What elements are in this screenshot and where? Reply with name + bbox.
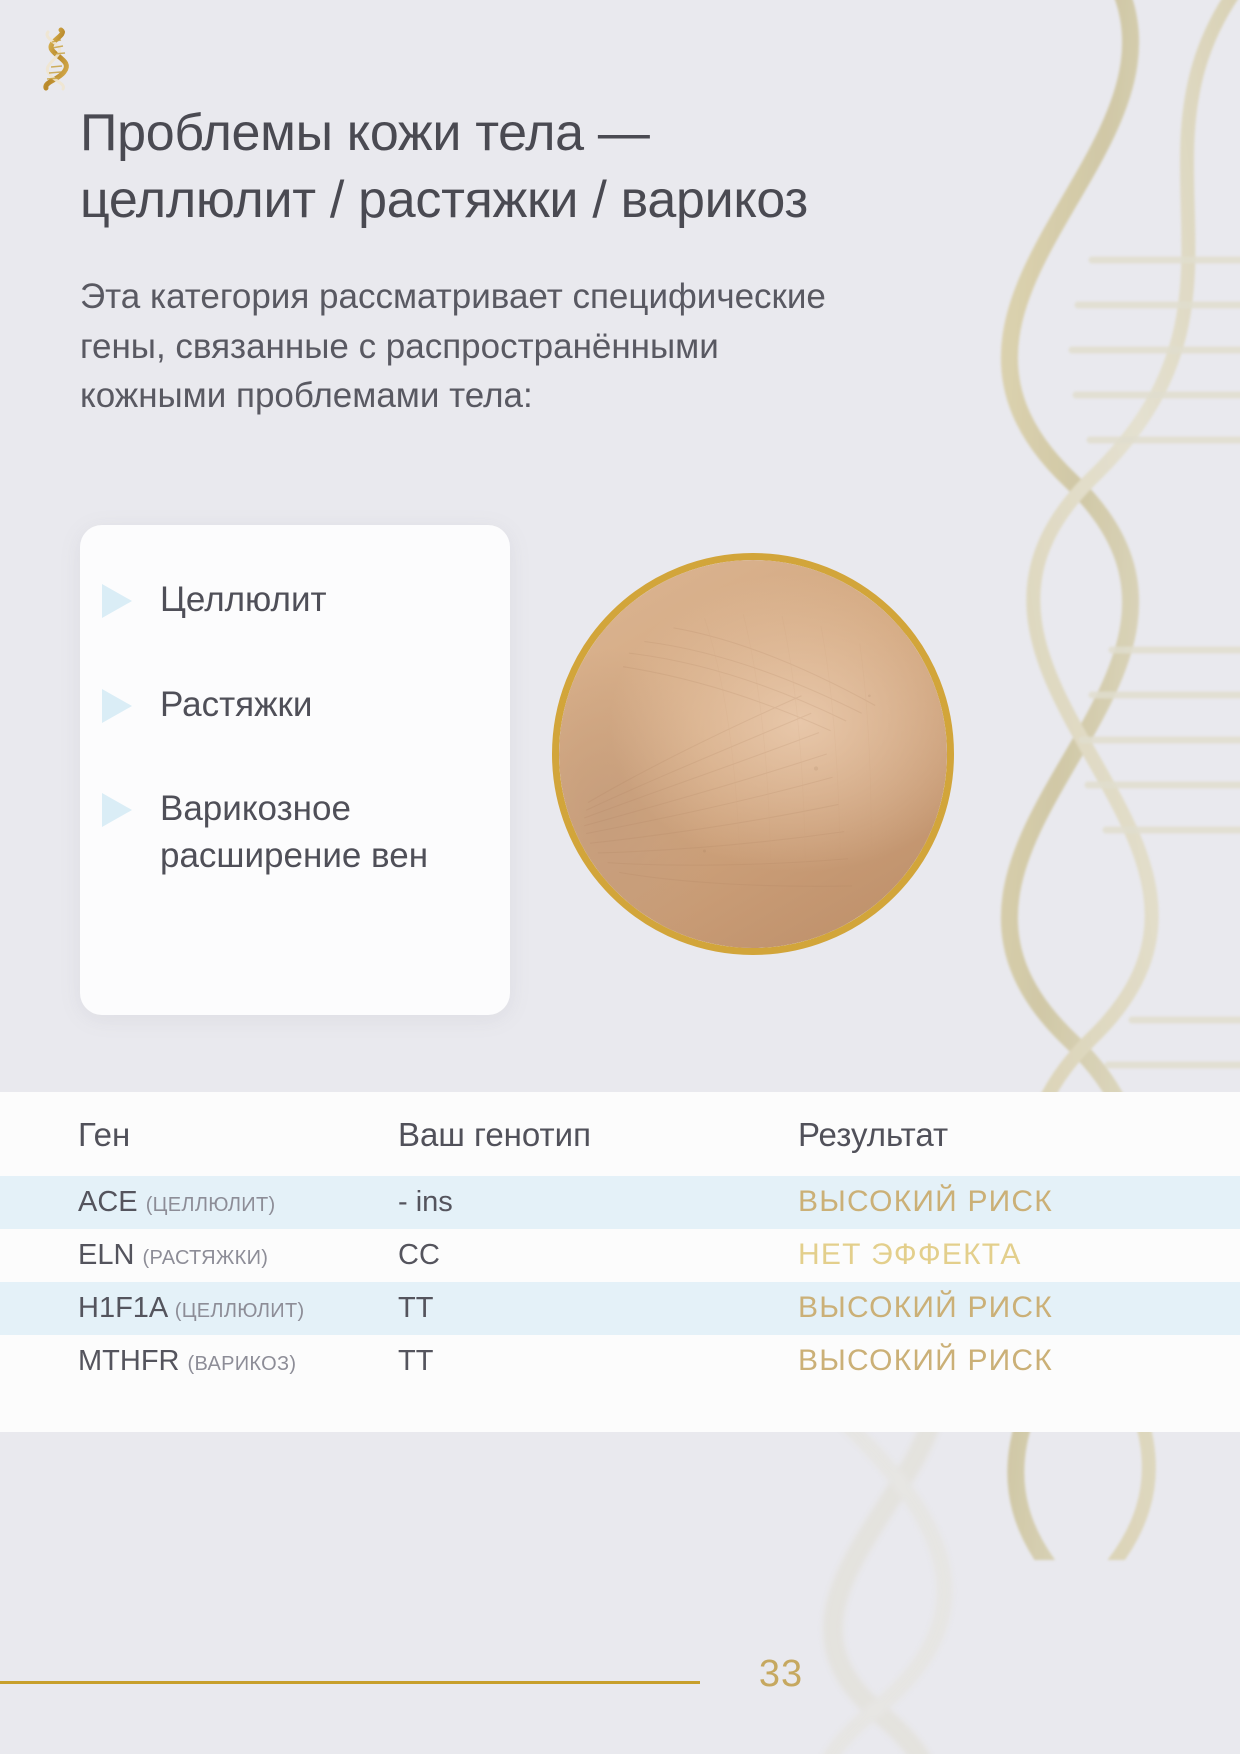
cell-genotype: TT xyxy=(398,1335,798,1388)
column-header-genotype: Ваш генотип xyxy=(398,1092,798,1176)
triangle-bullet-icon xyxy=(102,584,132,618)
column-header-gene: Ген xyxy=(0,1092,398,1176)
photo-stretchmark-lines xyxy=(559,560,947,948)
status-badge: НЕТ ЭФФЕКТА xyxy=(798,1238,1022,1271)
list-item-label: Целлюлит xyxy=(160,577,327,624)
slide-page: Проблемы кожи тела — целлюлит / растяжки… xyxy=(0,0,1240,1754)
gene-name: ELN xyxy=(78,1239,134,1271)
list-item-label: Варикозное расширение вен xyxy=(160,786,496,879)
table-row: H1F1A (ЦЕЛЛЮЛИТ) TT ВЫСОКИЙ РИСК xyxy=(0,1282,1240,1335)
table-header-row: Ген Ваш генотип Результат xyxy=(0,1092,1240,1176)
conditions-card: Целлюлит Растяжки Варикозное расширение … xyxy=(80,525,510,1015)
skin-closeup-photo xyxy=(552,553,954,955)
table-row: ELN (РАСТЯЖКИ) CC НЕТ ЭФФЕКТА xyxy=(0,1229,1240,1282)
status-badge: ВЫСОКИЙ РИСК xyxy=(798,1185,1053,1218)
gene-note: (ВАРИКОЗ) xyxy=(188,1353,297,1375)
page-title-line-2: целлюлит / растяжки / варикоз xyxy=(80,167,960,234)
cell-result: ВЫСОКИЙ РИСК xyxy=(798,1176,1240,1229)
cell-genotype: CC xyxy=(398,1229,798,1282)
cell-gene: ACE (ЦЕЛЛЮЛИТ) xyxy=(0,1176,398,1229)
triangle-bullet-icon xyxy=(102,689,132,723)
cell-gene: MTHFR (ВАРИКОЗ) xyxy=(0,1335,398,1388)
cell-genotype: TT xyxy=(398,1282,798,1335)
dna-helix-logo xyxy=(30,22,80,94)
list-item-label: Растяжки xyxy=(160,682,312,729)
cell-genotype: - ins xyxy=(398,1176,798,1229)
results-table: Ген Ваш генотип Результат ACE (ЦЕЛЛЮЛИТ)… xyxy=(0,1092,1240,1388)
gene-note: (ЦЕЛЛЮЛИТ) xyxy=(175,1300,305,1322)
page-number: 33 xyxy=(736,1653,826,1696)
list-item: Растяжки xyxy=(102,682,496,729)
table-row: MTHFR (ВАРИКОЗ) TT ВЫСОКИЙ РИСК xyxy=(0,1335,1240,1388)
page-title: Проблемы кожи тела — целлюлит / растяжки… xyxy=(80,100,960,233)
gene-note: (РАСТЯЖКИ) xyxy=(142,1247,268,1269)
cell-result: НЕТ ЭФФЕКТА xyxy=(798,1229,1240,1282)
triangle-bullet-icon xyxy=(102,793,132,827)
status-badge: ВЫСОКИЙ РИСК xyxy=(798,1344,1053,1377)
list-item: Варикозное расширение вен xyxy=(102,786,496,879)
gene-name: MTHFR xyxy=(78,1345,179,1377)
intro-paragraph: Эта категория рассматривает специфически… xyxy=(80,272,840,421)
results-table-band: Ген Ваш генотип Результат ACE (ЦЕЛЛЮЛИТ)… xyxy=(0,1092,1240,1432)
cell-gene: ELN (РАСТЯЖКИ) xyxy=(0,1229,398,1282)
cell-gene: H1F1A (ЦЕЛЛЮЛИТ) xyxy=(0,1282,398,1335)
cell-result: ВЫСОКИЙ РИСК xyxy=(798,1282,1240,1335)
cell-result: ВЫСОКИЙ РИСК xyxy=(798,1335,1240,1388)
page-title-line-1: Проблемы кожи тела — xyxy=(80,100,960,167)
conditions-list: Целлюлит Растяжки Варикозное расширение … xyxy=(102,577,496,879)
list-item: Целлюлит xyxy=(102,577,496,624)
gene-name: ACE xyxy=(78,1186,138,1218)
footer-rule xyxy=(0,1681,700,1684)
column-header-result: Результат xyxy=(798,1092,1240,1176)
table-row: ACE (ЦЕЛЛЮЛИТ) - ins ВЫСОКИЙ РИСК xyxy=(0,1176,1240,1229)
gene-note: (ЦЕЛЛЮЛИТ) xyxy=(146,1194,276,1216)
status-badge: ВЫСОКИЙ РИСК xyxy=(798,1291,1053,1324)
gene-name: H1F1A xyxy=(78,1292,167,1324)
